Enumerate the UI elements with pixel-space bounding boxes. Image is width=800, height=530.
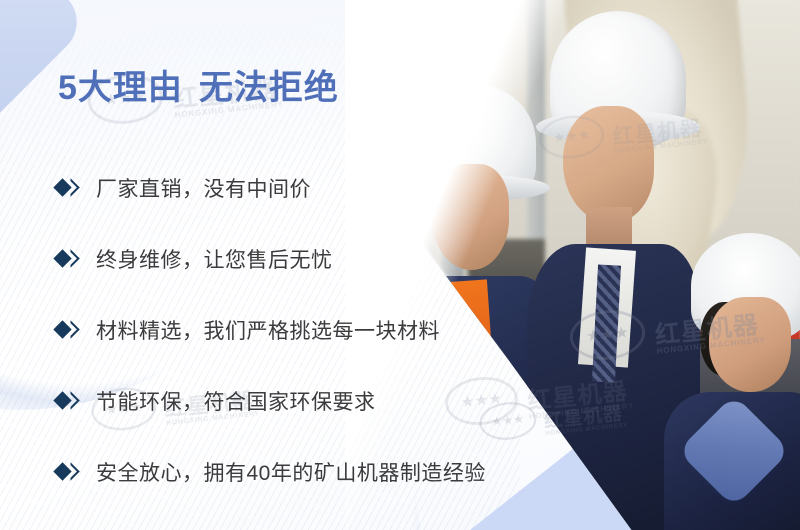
list-item-label: 厂家直销，没有中间价 xyxy=(96,173,311,203)
diamond-chevron-icon xyxy=(56,392,74,410)
list-item-label: 材料精选，我们严格挑选每一块材料 xyxy=(96,315,440,345)
diamond-chevron-icon xyxy=(56,179,74,197)
list-item: 安全放心，拥有40年的矿山机器制造经验 xyxy=(56,436,676,507)
title-main: 5大理由 xyxy=(58,69,183,107)
diamond-chevron-icon xyxy=(56,463,74,481)
list-item-label: 节能环保，符合国家环保要求 xyxy=(96,386,376,416)
banner-content: 5大理由无法拒绝 厂家直销，没有中间价 终身维修，让您售后无忧 材料精选，我们严… xyxy=(0,0,800,530)
promo-banner: ★★★ 红星机器 HONGXING MACHINERY ★★★ 红星机器 HON… xyxy=(0,0,800,530)
list-item: 厂家直销，没有中间价 xyxy=(56,152,676,223)
list-item-label: 终身维修，让您售后无忧 xyxy=(96,244,333,274)
title-sub: 无法拒绝 xyxy=(199,69,339,107)
feature-list: 厂家直销，没有中间价 终身维修，让您售后无忧 材料精选，我们严格挑选每一块材料 … xyxy=(56,152,676,507)
page-title: 5大理由无法拒绝 xyxy=(58,60,339,109)
diamond-chevron-icon xyxy=(56,321,74,339)
list-item: 材料精选，我们严格挑选每一块材料 xyxy=(56,294,676,365)
diamond-chevron-icon xyxy=(56,250,74,268)
list-item: 节能环保，符合国家环保要求 xyxy=(56,365,676,436)
list-item-label: 安全放心，拥有40年的矿山机器制造经验 xyxy=(96,457,486,487)
list-item: 终身维修，让您售后无忧 xyxy=(56,223,676,294)
